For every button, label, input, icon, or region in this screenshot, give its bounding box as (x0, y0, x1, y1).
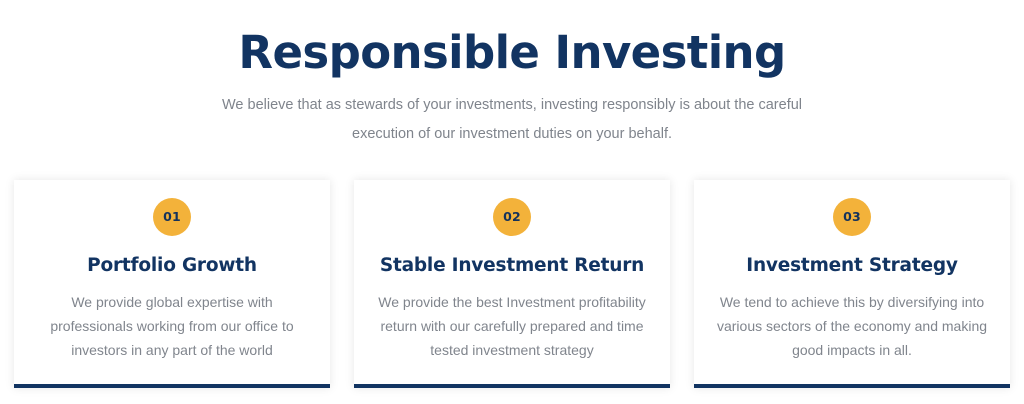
page-subtitle: We believe that as stewards of your inve… (192, 91, 832, 149)
card-accent-bar (14, 384, 330, 388)
card-accent-bar (354, 384, 670, 388)
responsible-investing-section: Responsible Investing We believe that as… (0, 0, 1024, 404)
feature-card-stable-investment-return[interactable]: 02 Stable Investment Return We provide t… (354, 180, 670, 388)
step-number-label: 02 (503, 211, 521, 224)
feature-card-portfolio-growth[interactable]: 01 Portfolio Growth We provide global ex… (14, 180, 330, 388)
card-title: Portfolio Growth (30, 254, 314, 278)
card-title: Stable Investment Return (370, 254, 654, 278)
card-description: We provide the best Investment profitabi… (370, 290, 654, 362)
card-description: We provide global expertise with profess… (30, 290, 314, 362)
step-number-badge: 01 (153, 198, 191, 236)
page-title: Responsible Investing (0, 27, 1024, 79)
feature-cards-row: 01 Portfolio Growth We provide global ex… (14, 180, 1010, 388)
card-description: We tend to achieve this by diversifying … (710, 290, 994, 362)
step-number-badge: 02 (493, 198, 531, 236)
step-number-badge: 03 (833, 198, 871, 236)
card-accent-bar (694, 384, 1010, 388)
step-number-label: 03 (843, 211, 861, 224)
step-number-label: 01 (163, 211, 181, 224)
card-title: Investment Strategy (710, 254, 994, 278)
section-header: Responsible Investing We believe that as… (0, 0, 1024, 149)
feature-card-investment-strategy[interactable]: 03 Investment Strategy We tend to achiev… (694, 180, 1010, 388)
